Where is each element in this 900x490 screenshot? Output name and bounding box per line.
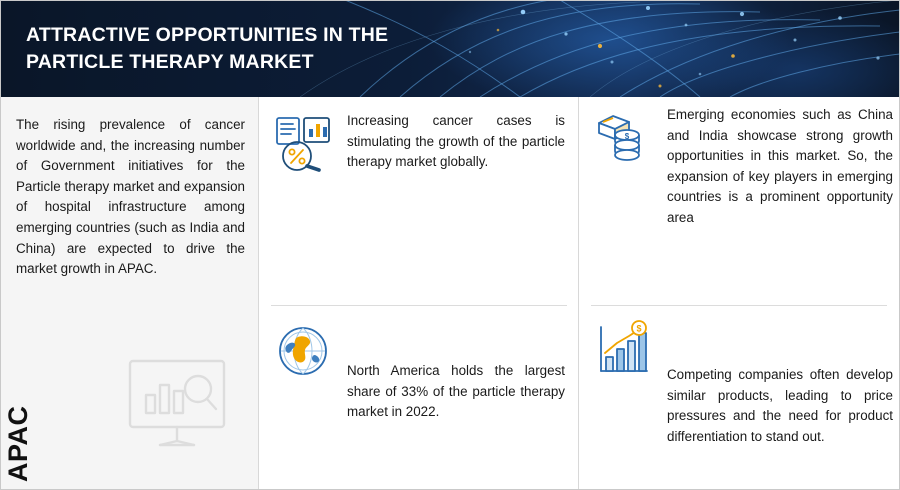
cell-north-america-share: North America holds the largest share of… [271,319,571,423]
svg-text:$: $ [625,132,630,141]
right-column: $ Emerging economies such as China and I… [579,97,899,490]
globe-icon [271,319,335,383]
infographic-page: ATTRACTIVE OPPORTUNITIES IN THE PARTICLE… [0,0,900,490]
cell-competition: $ Competing companies often develop simi… [591,319,899,447]
left-panel-paragraph: The rising prevalence of cancer worldwid… [16,115,245,280]
cell-emerging-economies-text: Emerging economies such as China and Ind… [667,105,893,229]
region-label-apac: APAC [3,405,34,482]
bar-chart-growth-dollar-icon: $ [591,319,655,383]
money-coins-icon: $ [591,105,655,169]
left-panel: The rising prevalence of cancer worldwid… [0,97,259,490]
cell-cancer-cases: Increasing cancer cases is stimulating t… [271,111,571,175]
svg-text:$: $ [636,324,641,334]
document-chart-search-icon [271,111,335,175]
page-title: ATTRACTIVE OPPORTUNITIES IN THE PARTICLE… [26,22,446,76]
cell-north-america-share-text: North America holds the largest share of… [347,319,565,423]
content-area: The rising prevalence of cancer worldwid… [0,97,900,490]
cell-cancer-cases-text: Increasing cancer cases is stimulating t… [347,111,565,173]
middle-column-divider [271,305,567,306]
presentation-chart-magnifier-icon [112,347,242,457]
cell-emerging-economies: $ Emerging economies such as China and I… [591,105,899,229]
right-column-divider [591,305,887,306]
middle-column: Increasing cancer cases is stimulating t… [259,97,579,490]
header-banner: ATTRACTIVE OPPORTUNITIES IN THE PARTICLE… [0,0,900,97]
cell-competition-text: Competing companies often develop simila… [667,319,893,447]
